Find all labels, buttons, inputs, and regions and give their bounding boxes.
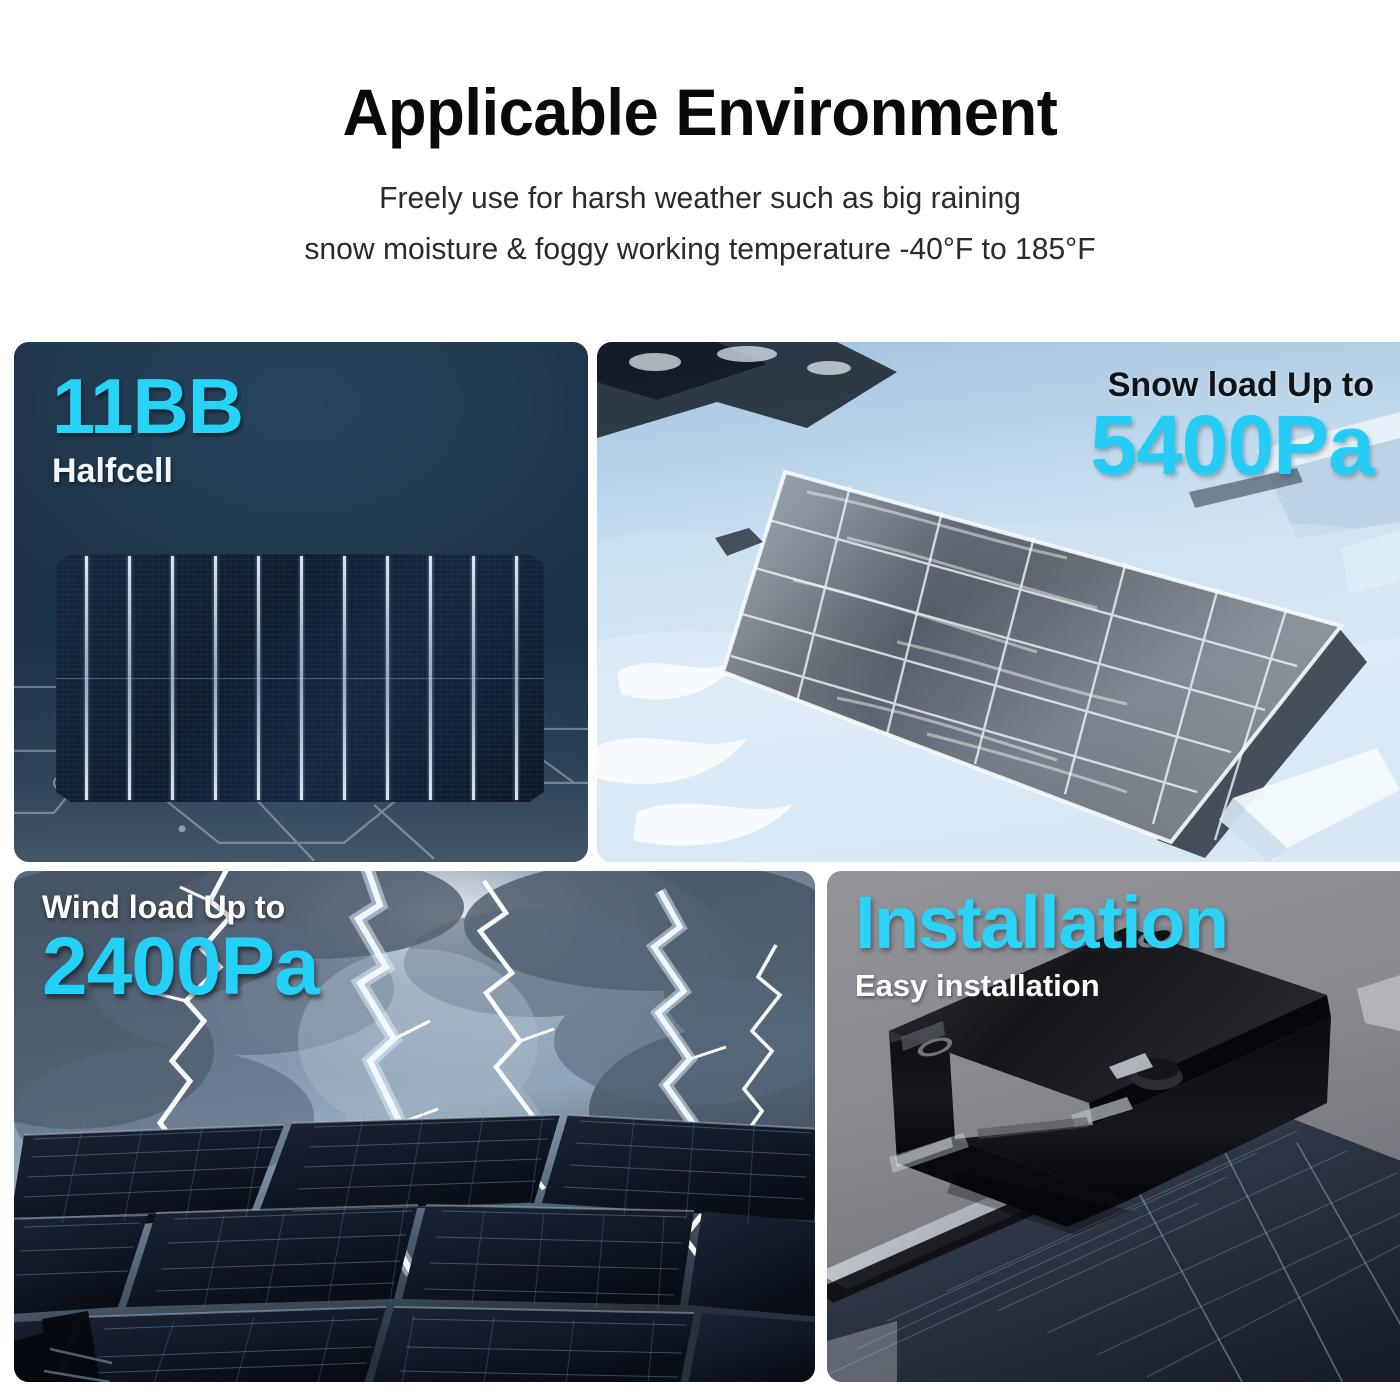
busbar [386,556,389,800]
install-label-group: Installation Easy installation [855,885,1228,1004]
subtitle-block: Freely use for harsh weather such as big… [0,173,1400,273]
busbar [472,556,475,800]
install-subline: Easy installation [855,968,1228,1004]
busbar [257,556,260,800]
snow-value: 5400Pa [1090,403,1374,489]
busbar [214,556,217,800]
busbar [343,556,346,800]
busbar [171,556,174,800]
busbar [85,556,88,800]
subtitle-line-2: snow moisture & foggy working temperatur… [21,224,1379,274]
wind-value: 2400Pa [42,925,319,1009]
panel-installation[interactable]: Installation Easy installation [827,871,1400,1382]
halfcell-headline: 11BB [52,368,243,444]
panel-snow-load[interactable]: Snow load Up to 5400Pa [597,342,1400,862]
snow-label-group: Snow load Up to 5400Pa [1090,366,1374,489]
halfcell-subline: Halfcell [52,452,243,491]
feature-panel-grid: 11BB Halfcell [0,342,1400,1400]
busbar [429,556,432,800]
wind-label-group: Wind load Up to 2400Pa [42,889,319,1009]
page-title: Applicable Environment [28,78,1372,147]
solar-cell-image [56,554,544,802]
halfcell-label-group: 11BB Halfcell [52,368,243,491]
busbar [515,556,518,800]
panel-11bb-halfcell[interactable]: 11BB Halfcell [14,342,588,862]
subtitle-line-1: Freely use for harsh weather such as big… [21,173,1379,223]
busbar [300,556,303,800]
panel-wind-load[interactable]: Wind load Up to 2400Pa [14,871,815,1382]
busbar [128,556,131,800]
install-headline: Installation [855,885,1228,962]
header-section: Applicable Environment Freely use for ha… [0,0,1400,274]
